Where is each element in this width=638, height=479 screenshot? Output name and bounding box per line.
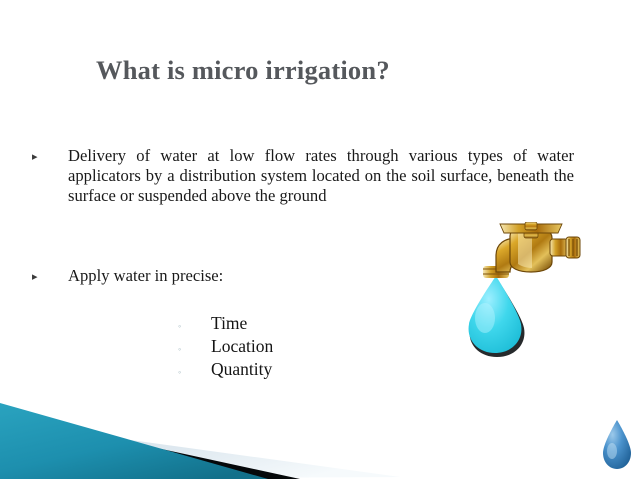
corner-decoration xyxy=(0,389,420,479)
sub-bullet-list: ◦ Time ◦ Location ◦ Quantity xyxy=(178,312,273,381)
bullet-paragraph-1-text: Delivery of water at low flow rates thro… xyxy=(68,146,574,207)
faucet-handle-hub xyxy=(525,222,537,230)
triangle-bullet-icon: ▸ xyxy=(32,266,50,287)
sub-bullet-label: Time xyxy=(211,312,247,335)
bullet-paragraph-1: ▸ Delivery of water at low flow rates th… xyxy=(32,146,574,207)
droplet-highlight xyxy=(607,443,617,459)
circle-bullet-icon: ◦ xyxy=(178,338,211,361)
list-item: ◦ Quantity xyxy=(178,358,273,381)
faucet-clipart xyxy=(452,222,592,372)
presentation-slide: What is micro irrigation? ▸ Delivery of … xyxy=(0,0,638,479)
sub-bullet-label: Location xyxy=(211,335,273,358)
list-item: ◦ Location xyxy=(178,335,273,358)
spout-collar-ring xyxy=(483,273,509,275)
droplet-shape xyxy=(603,420,631,469)
water-drop-highlight xyxy=(475,303,495,333)
sub-bullet-label: Quantity xyxy=(211,358,272,381)
water-droplet-icon xyxy=(600,419,634,471)
circle-bullet-icon: ◦ xyxy=(178,315,211,338)
deco-black-stripe xyxy=(0,414,300,479)
deco-light-wedge xyxy=(0,422,400,479)
triangle-bullet-icon: ▸ xyxy=(32,146,50,167)
bullet-paragraph-2-text: Apply water in precise: xyxy=(68,266,432,286)
list-item: ◦ Time xyxy=(178,312,273,335)
circle-bullet-icon: ◦ xyxy=(178,361,211,384)
deco-teal-triangle xyxy=(0,403,268,479)
slide-title: What is micro irrigation? xyxy=(96,55,556,86)
bullet-paragraph-2: ▸ Apply water in precise: xyxy=(32,266,432,287)
faucet-outlet xyxy=(550,239,568,256)
